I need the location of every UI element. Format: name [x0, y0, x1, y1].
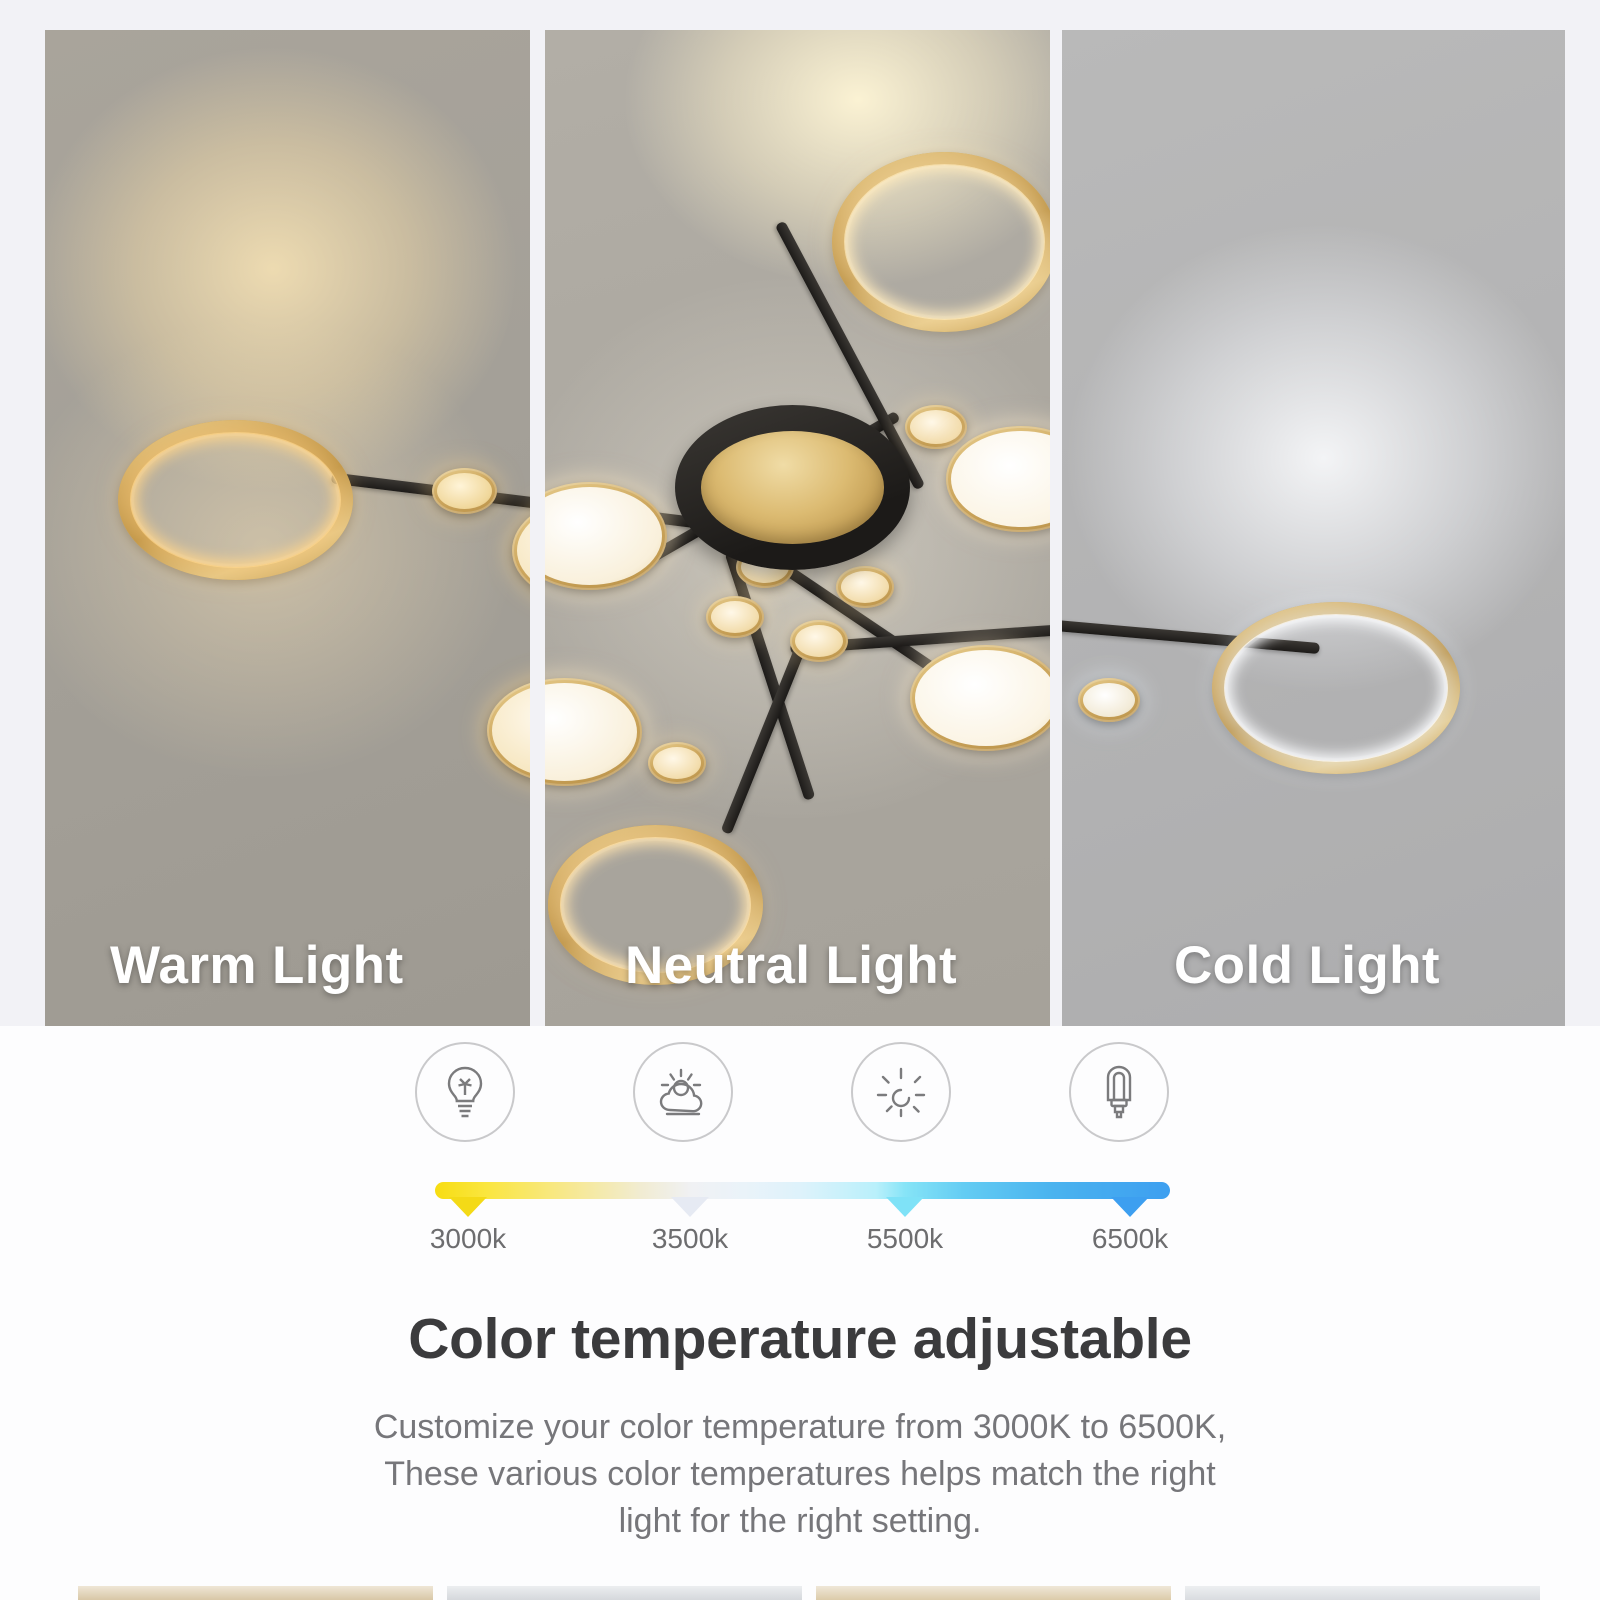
next-section-preview-panel — [1185, 1586, 1540, 1600]
ring-lamp — [118, 420, 353, 580]
sun-behind-cloud-icon[interactable] — [633, 1042, 733, 1142]
scale-marker-6500k — [1111, 1197, 1149, 1217]
fixture-arm — [331, 472, 530, 534]
product-feature-page: Warm Light — [0, 0, 1600, 1600]
panel-label-cold: Cold Light — [1174, 935, 1440, 996]
scale-label-6500k: 6500k — [1092, 1223, 1168, 1255]
panel-neutral-light[interactable]: Neutral Light — [545, 30, 1050, 1026]
description-line-2: These various color temperatures helps m… — [0, 1451, 1600, 1498]
chandelier-fixture-neutral — [545, 30, 1050, 1026]
scale-marker-3000k — [449, 1197, 487, 1217]
disc-lamp — [487, 678, 530, 783]
scale-label-3000k: 3000k — [430, 1223, 506, 1255]
next-section-preview-panel — [816, 1586, 1171, 1600]
disc-lamp — [512, 498, 530, 603]
panel-cold-light[interactable]: Cold Light — [1062, 30, 1565, 1026]
sun-icon[interactable] — [851, 1042, 951, 1142]
disc-lamp — [545, 678, 642, 786]
scale-marker-3500k — [671, 1197, 709, 1217]
ring-lamp — [832, 152, 1050, 332]
light-comparison-hero: Warm Light — [0, 0, 1600, 1026]
ring-lamp — [1212, 602, 1460, 774]
disc-lamp — [706, 596, 764, 638]
disc-lamp — [1078, 678, 1140, 722]
cfl-bulb-icon[interactable] — [1069, 1042, 1169, 1142]
chandelier-fixture-cold — [1062, 30, 1520, 1026]
disc-lamp — [545, 482, 667, 590]
incandescent-bulb-icon[interactable] — [415, 1042, 515, 1142]
section-description: Customize your color temperature from 30… — [0, 1404, 1600, 1545]
ceiling-mount-hub — [675, 405, 910, 570]
color-temperature-scale[interactable] — [435, 1182, 1170, 1199]
panel-label-warm: Warm Light — [110, 935, 404, 996]
disc-lamp — [905, 405, 967, 449]
panel-warm-light[interactable]: Warm Light — [45, 30, 530, 1026]
section-headline: Color temperature adjustable — [0, 1306, 1600, 1372]
next-section-preview-panel — [447, 1586, 802, 1600]
description-line-1: Customize your color temperature from 30… — [0, 1404, 1600, 1451]
scale-label-3500k: 3500k — [652, 1223, 728, 1255]
next-section-preview-panel — [78, 1586, 433, 1600]
disc-lamp — [946, 426, 1050, 532]
disc-lamp — [910, 645, 1050, 751]
light-type-icon-row — [0, 1042, 1600, 1142]
fixture-arm — [725, 550, 816, 801]
chandelier-fixture-warm — [45, 30, 530, 1026]
disc-lamp — [432, 468, 497, 514]
disc-lamp — [836, 566, 894, 608]
disc-lamp — [790, 620, 848, 662]
description-line-3: light for the right setting. — [0, 1498, 1600, 1545]
disc-lamp — [648, 742, 706, 784]
scale-label-5500k: 5500k — [867, 1223, 943, 1255]
scale-marker-5500k — [886, 1197, 924, 1217]
panel-label-neutral: Neutral Light — [625, 935, 957, 996]
